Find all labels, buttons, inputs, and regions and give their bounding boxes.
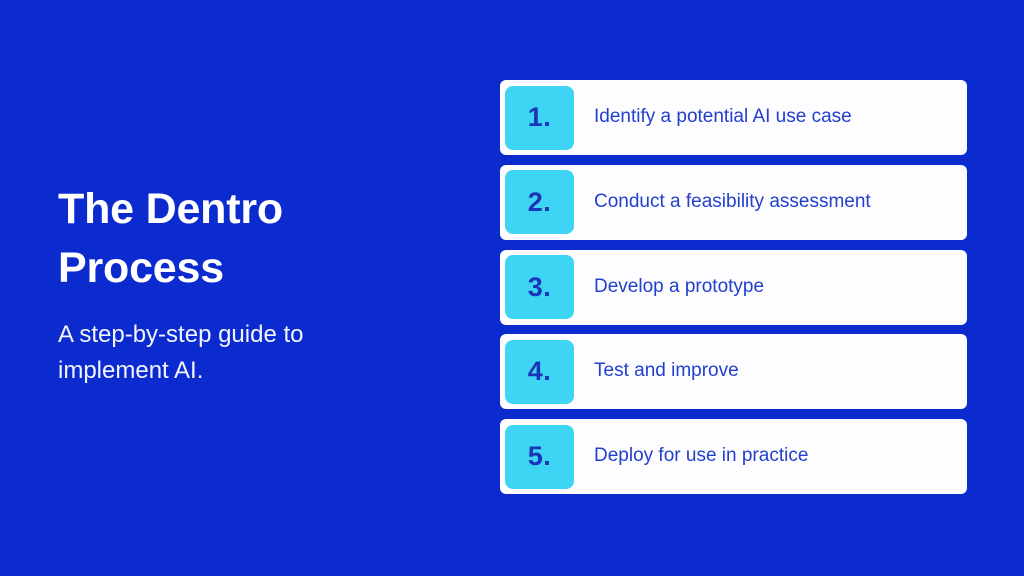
heading-block: The Dentro Process A step-by-step guide … (58, 180, 458, 390)
list-item[interactable]: 4. Test and improve (500, 334, 967, 409)
step-label: Identify a potential AI use case (594, 105, 852, 130)
step-number-badge: 1. (505, 86, 574, 150)
list-item[interactable]: 1. Identify a potential AI use case (500, 80, 967, 155)
list-item[interactable]: 5. Deploy for use in practice (500, 419, 967, 494)
step-list: 1. Identify a potential AI use case 2. C… (500, 80, 967, 494)
step-number-badge: 4. (505, 340, 574, 404)
step-label: Develop a prototype (594, 275, 764, 300)
page-subtitle: A step-by-step guide to implement AI. (58, 317, 388, 390)
step-label: Conduct a feasibility assessment (594, 190, 871, 215)
page-title: The Dentro Process (58, 180, 358, 299)
step-label: Test and improve (594, 359, 739, 384)
step-number-badge: 3. (505, 255, 574, 319)
step-number-badge: 2. (505, 170, 574, 234)
list-item[interactable]: 3. Develop a prototype (500, 250, 967, 325)
list-item[interactable]: 2. Conduct a feasibility assessment (500, 165, 967, 240)
step-number-badge: 5. (505, 425, 574, 489)
step-label: Deploy for use in practice (594, 444, 808, 469)
slide-canvas: The Dentro Process A step-by-step guide … (0, 0, 1024, 576)
